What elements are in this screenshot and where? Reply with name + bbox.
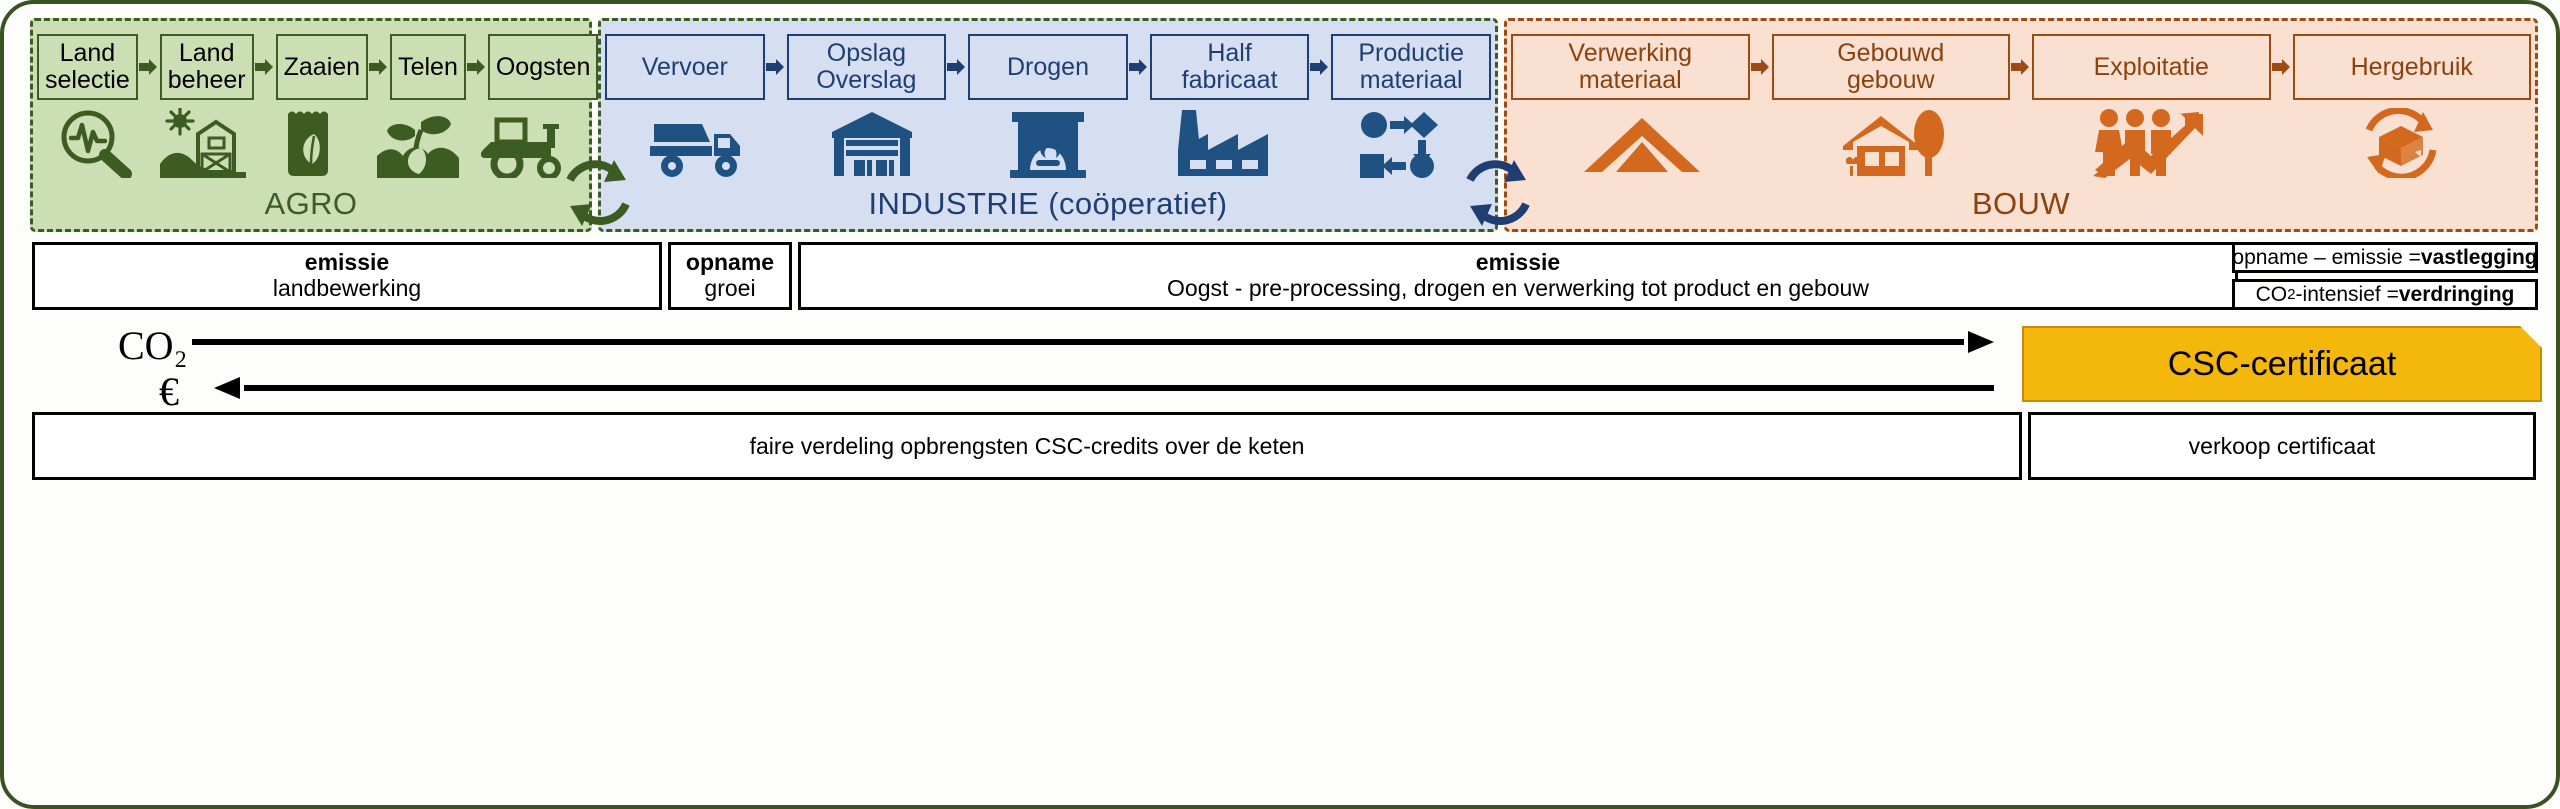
formula-text-post: -intensief = bbox=[2296, 283, 2399, 307]
zone-agro-label: AGRO bbox=[33, 178, 589, 229]
zone-bouw[interactable]: Verwerking materiaal Gebouwd gebouw Expl… bbox=[1504, 18, 2538, 232]
house-tree-icon bbox=[1768, 108, 2021, 178]
step-telen[interactable]: Telen bbox=[390, 34, 466, 100]
formula-emphasis: vastlegging bbox=[2421, 246, 2538, 270]
kiln-fire-icon bbox=[960, 108, 1136, 178]
agro-industrie-loop-icon bbox=[556, 156, 640, 235]
step-arrow-icon bbox=[1750, 57, 1772, 77]
band-title: opname bbox=[686, 250, 774, 276]
step-gebouwd-gebouw[interactable]: Gebouwd gebouw bbox=[1772, 34, 2011, 100]
sprout-growing-icon bbox=[365, 108, 473, 178]
step-arrow-icon bbox=[2010, 57, 2032, 77]
csc-certificate-badge[interactable]: CSC-certificaat bbox=[2022, 326, 2542, 402]
bottom-row: faire verdeling opbrengsten CSC-credits … bbox=[32, 412, 2536, 480]
band-emissie-landbewerking: emissie landbewerking bbox=[32, 242, 662, 310]
step-land-beheer[interactable]: Land beheer bbox=[160, 34, 254, 100]
farm-field-barn-icon bbox=[149, 108, 257, 178]
band-title: emissie bbox=[305, 250, 389, 276]
step-arrow-icon bbox=[1309, 57, 1331, 77]
formula-emphasis: verdringing bbox=[2399, 283, 2515, 307]
diagram-canvas: Land selectie Land beheer Zaaien Telen O… bbox=[0, 0, 2560, 809]
step-half-fabricaat[interactable]: Half fabricaat bbox=[1150, 34, 1310, 100]
band-emissie-keten: emissie Oogst - pre-processing, drogen e… bbox=[798, 242, 2238, 310]
step-productie-materiaal[interactable]: Productie materiaal bbox=[1331, 34, 1491, 100]
formula-verdringing: CO2-intensief = verdringing bbox=[2232, 279, 2538, 310]
formula-text: opname – emissie = bbox=[2232, 246, 2421, 270]
zone-industrie-label: INDUSTRIE (coöperatief) bbox=[601, 178, 1495, 229]
zone-industrie-icons bbox=[601, 106, 1495, 178]
zone-agro[interactable]: Land selectie Land beheer Zaaien Telen O… bbox=[30, 18, 592, 232]
step-arrow-icon bbox=[254, 57, 276, 77]
zone-agro-icons bbox=[33, 106, 589, 178]
step-arrow-icon bbox=[946, 57, 968, 77]
warehouse-icon bbox=[785, 108, 961, 178]
formula-text-pre: CO bbox=[2256, 283, 2288, 307]
step-arrow-icon bbox=[138, 57, 160, 77]
band-subtitle: Oogst - pre-processing, drogen en verwer… bbox=[1167, 276, 1869, 302]
band-subtitle: landbewerking bbox=[273, 276, 421, 302]
value-chain: Land selectie Land beheer Zaaien Telen O… bbox=[30, 18, 2538, 232]
formula-stack: opname – emissie = vastlegging CO2-inten… bbox=[2232, 242, 2538, 310]
step-arrow-icon bbox=[368, 57, 390, 77]
formula-vastlegging: opname – emissie = vastlegging bbox=[2232, 242, 2538, 273]
roof-truss-icon bbox=[1515, 116, 1768, 178]
people-growth-chart-icon bbox=[2021, 108, 2274, 178]
zone-industrie[interactable]: Vervoer Opslag Overslag Drogen Half fabr… bbox=[598, 18, 1498, 232]
zone-bouw-label: BOUW bbox=[1507, 178, 2535, 229]
step-land-selectie[interactable]: Land selectie bbox=[37, 34, 138, 100]
zone-agro-steps: Land selectie Land beheer Zaaien Telen O… bbox=[33, 32, 589, 102]
zone-industrie-steps: Vervoer Opslag Overslag Drogen Half fabr… bbox=[601, 32, 1495, 102]
band-title: emissie bbox=[1476, 250, 1560, 276]
co2-arrowhead-icon bbox=[1968, 331, 1994, 353]
euro-arrowhead-icon bbox=[214, 377, 240, 399]
factory-icon bbox=[1136, 108, 1312, 178]
industrie-bouw-loop-icon bbox=[1456, 156, 1540, 235]
step-vervoer[interactable]: Vervoer bbox=[605, 34, 765, 100]
step-arrow-icon bbox=[466, 57, 488, 77]
step-arrow-icon bbox=[1128, 57, 1150, 77]
step-opslag-overslag[interactable]: Opslag Overslag bbox=[787, 34, 947, 100]
certificate-sale-box: verkoop certificaat bbox=[2028, 412, 2536, 480]
land-analysis-magnifier-icon bbox=[41, 108, 149, 178]
recycle-box-icon bbox=[2274, 108, 2527, 178]
step-arrow-icon bbox=[765, 57, 787, 77]
step-zaaien[interactable]: Zaaien bbox=[276, 34, 368, 100]
step-arrow-icon bbox=[2271, 57, 2293, 77]
zone-bouw-steps: Verwerking materiaal Gebouwd gebouw Expl… bbox=[1507, 32, 2535, 102]
formula-subscript: 2 bbox=[2287, 286, 2295, 303]
step-hergebruik[interactable]: Hergebruik bbox=[2293, 34, 2532, 100]
emission-bands: emissie landbewerking opname groei emiss… bbox=[32, 242, 2238, 310]
band-opname-groei: opname groei bbox=[668, 242, 792, 310]
fair-distribution-box: faire verdeling opbrengsten CSC-credits … bbox=[32, 412, 2022, 480]
seed-bag-icon bbox=[257, 108, 365, 178]
step-oogsten[interactable]: Oogsten bbox=[488, 34, 599, 100]
band-subtitle: groei bbox=[704, 276, 755, 302]
step-verwerking-materiaal[interactable]: Verwerking materiaal bbox=[1511, 34, 1750, 100]
zone-bouw-icons bbox=[1507, 106, 2535, 178]
step-exploitatie[interactable]: Exploitatie bbox=[2032, 34, 2271, 100]
step-drogen[interactable]: Drogen bbox=[968, 34, 1128, 100]
